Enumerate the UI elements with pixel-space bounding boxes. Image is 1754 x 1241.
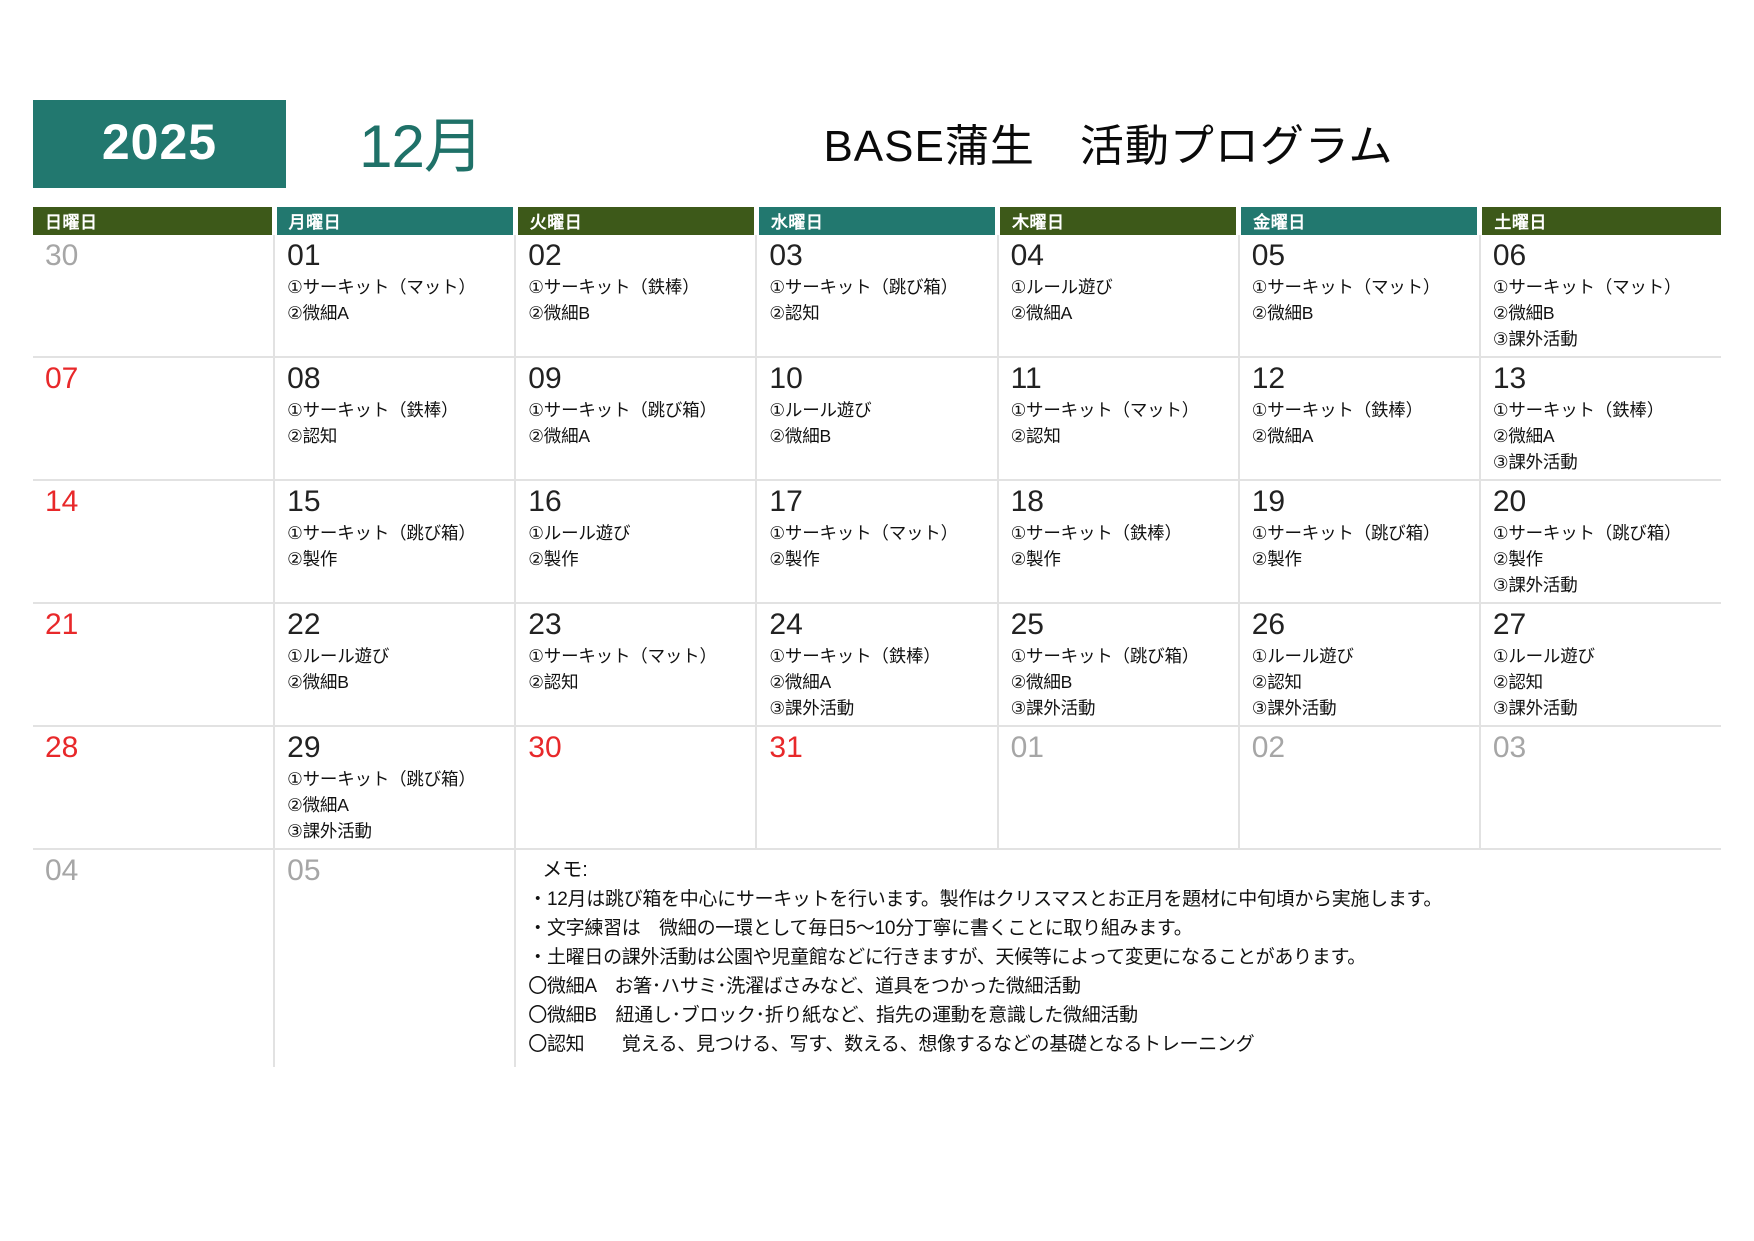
day-event: ②微細A [769,669,990,695]
page-title: BASE蒲生 活動プログラム [556,100,1721,188]
day-event: ①サーキット（跳び箱） [287,520,508,546]
day-event: ①サーキット（マット） [287,274,508,300]
day-event: ①サーキット（鉄棒） [1011,520,1232,546]
day-event: ②微細A [1493,423,1715,449]
day-event: ①ルール遊び [528,520,749,546]
day-event: ③課外活動 [769,695,990,721]
calendar-header: 2025 12月 BASE蒲生 活動プログラム [33,100,1721,188]
day-cell[interactable]: 04 ①ルール遊び ②微細A [998,235,1239,357]
day-cell[interactable]: 22 ①ルール遊び ②微細B [274,603,515,726]
weekday-header-wednesday: 水曜日 [756,207,997,235]
memo-line: 〇微細A お箸･ハサミ･洗濯ばさみなど、道具をつかった微細活動 [528,972,1721,1001]
day-event: ①サーキット（マット） [1011,397,1232,423]
day-number: 19 [1252,485,1473,519]
day-cell[interactable]: 24 ①サーキット（鉄棒） ②微細A ③課外活動 [756,603,997,726]
day-event: ②微細B [1011,669,1232,695]
day-event: ②微細B [769,423,990,449]
day-number: 24 [769,608,990,642]
day-cell[interactable]: 16 ①ルール遊び ②製作 [515,480,756,603]
memo-panel: メモ: ・12月は跳び箱を中心にサーキットを行います。製作はクリスマスとお正月を… [515,849,1721,1067]
day-cell[interactable]: 01 ①サーキット（マット） ②微細A [274,235,515,357]
day-cell[interactable]: 12 ①サーキット（鉄棒） ②微細A [1239,357,1480,480]
day-cell[interactable]: 01 [998,726,1239,849]
weekday-header-monday: 月曜日 [274,207,515,235]
day-event: ①サーキット（鉄棒） [769,643,990,669]
day-event: ③課外活動 [1493,695,1715,721]
memo-line: ・12月は跳び箱を中心にサーキットを行います。製作はクリスマスとお正月を題材に中… [528,885,1721,914]
month-label: 12月 [286,100,556,188]
day-cell[interactable]: 15 ①サーキット（跳び箱） ②製作 [274,480,515,603]
day-event: ①ルール遊び [287,643,508,669]
day-cell[interactable]: 28 [33,726,274,849]
weekday-header-tuesday: 火曜日 [515,207,756,235]
day-number: 04 [45,854,267,888]
day-event: ①ルール遊び [1252,643,1473,669]
calendar-body: 30 01 ①サーキット（マット） ②微細A 02 ①サーキット（鉄棒） ②微細… [33,235,1721,1067]
day-cell[interactable]: 14 [33,480,274,603]
day-number: 10 [769,362,990,396]
day-event: ②認知 [528,669,749,695]
day-number: 08 [287,362,508,396]
day-cell[interactable]: 17 ①サーキット（マット） ②製作 [756,480,997,603]
day-event: ②微細A [528,423,749,449]
day-number: 11 [1011,362,1232,396]
day-event: ②認知 [1252,669,1473,695]
day-event: ②微細B [528,300,749,326]
day-cell[interactable]: 18 ①サーキット（鉄棒） ②製作 [998,480,1239,603]
day-number: 13 [1493,362,1715,396]
day-event: ①サーキット（鉄棒） [1493,397,1715,423]
calendar-week-row: 07 08 ①サーキット（鉄棒） ②認知 09 ①サーキット（跳び箱） ②微細A… [33,357,1721,480]
day-cell[interactable]: 23 ①サーキット（マット） ②認知 [515,603,756,726]
calendar-page: 2025 12月 BASE蒲生 活動プログラム 日曜日 月曜日 火曜日 水曜日 … [0,0,1754,1241]
day-number: 01 [1011,731,1232,765]
day-event: ③課外活動 [1011,695,1232,721]
day-event: ②微細A [287,300,508,326]
day-event: ②微細A [1011,300,1232,326]
day-event: ②微細A [1252,423,1473,449]
day-event: ②認知 [287,423,508,449]
day-event: ①サーキット（鉄棒） [287,397,508,423]
memo-line: ・土曜日の課外活動は公園や児童館などに行きますが、天候等によって変更になることが… [528,943,1721,972]
day-number: 05 [287,854,508,888]
day-event: ③課外活動 [1252,695,1473,721]
day-cell[interactable]: 19 ①サーキット（跳び箱） ②製作 [1239,480,1480,603]
day-number: 01 [287,239,508,273]
day-event: ②認知 [1011,423,1232,449]
day-event: ①サーキット（マット） [769,520,990,546]
calendar-memo-row: 04 05 メモ: ・12月は跳び箱を中心にサーキットを行います。製作はクリスマ… [33,849,1721,1067]
day-event: ③課外活動 [1493,449,1715,475]
day-number: 27 [1493,608,1715,642]
day-number: 30 [528,731,749,765]
day-event: ②製作 [769,546,990,572]
day-event: ②認知 [769,300,990,326]
calendar-week-row: 28 29 ①サーキット（跳び箱） ②微細A ③課外活動 30 31 01 [33,726,1721,849]
day-cell[interactable]: 03 ①サーキット（跳び箱） ②認知 [756,235,997,357]
day-cell[interactable]: 13 ①サーキット（鉄棒） ②微細A ③課外活動 [1480,357,1721,480]
calendar-week-row: 14 15 ①サーキット（跳び箱） ②製作 16 ①ルール遊び ②製作 17 ①… [33,480,1721,603]
day-event: ①サーキット（跳び箱） [1493,520,1715,546]
day-number: 09 [528,362,749,396]
day-cell[interactable]: 21 [33,603,274,726]
day-number: 02 [528,239,749,273]
day-number: 03 [769,239,990,273]
day-number: 16 [528,485,749,519]
day-number: 03 [1493,731,1715,765]
weekday-header-row: 日曜日 月曜日 火曜日 水曜日 木曜日 金曜日 土曜日 [33,207,1721,235]
day-event: ①サーキット（跳び箱） [1011,643,1232,669]
day-cell[interactable]: 10 ①ルール遊び ②微細B [756,357,997,480]
day-event: ①サーキット（跳び箱） [528,397,749,423]
day-event: ②製作 [1011,546,1232,572]
weekday-header-friday: 金曜日 [1239,207,1480,235]
day-event: ①サーキット（マット） [1493,274,1715,300]
day-cell[interactable]: 06 ①サーキット（マット） ②微細B ③課外活動 [1480,235,1721,357]
weekday-header-sunday: 日曜日 [33,207,274,235]
day-number: 30 [45,239,267,273]
day-cell[interactable]: 26 ①ルール遊び ②認知 ③課外活動 [1239,603,1480,726]
day-cell[interactable]: 05 [274,849,515,1067]
day-number: 31 [769,731,990,765]
memo-title: メモ: [528,856,1721,884]
day-number: 07 [45,362,267,396]
calendar-week-row: 21 22 ①ルール遊び ②微細B 23 ①サーキット（マット） ②認知 24 … [33,603,1721,726]
weekday-header-thursday: 木曜日 [998,207,1239,235]
day-event: ①サーキット（マット） [1252,274,1473,300]
memo-line: 〇微細B 紐通し･ブロック･折り紙など、指先の運動を意識した微細活動 [528,1001,1721,1030]
day-cell[interactable]: 30 [33,235,274,357]
day-event: ②認知 [1493,669,1715,695]
day-number: 02 [1252,731,1473,765]
day-number: 12 [1252,362,1473,396]
day-cell[interactable]: 20 ①サーキット（跳び箱） ②製作 ③課外活動 [1480,480,1721,603]
day-cell[interactable]: 02 ①サーキット（鉄棒） ②微細B [515,235,756,357]
day-event: ②製作 [287,546,508,572]
day-event: ②製作 [1493,546,1715,572]
day-number: 29 [287,731,508,765]
day-cell[interactable]: 29 ①サーキット（跳び箱） ②微細A ③課外活動 [274,726,515,849]
day-number: 23 [528,608,749,642]
day-event: ③課外活動 [1493,326,1715,352]
day-number: 04 [1011,239,1232,273]
day-number: 20 [1493,485,1715,519]
day-cell[interactable]: 02 [1239,726,1480,849]
day-cell[interactable]: 03 [1480,726,1721,849]
day-event: ②微細B [1252,300,1473,326]
day-number: 15 [287,485,508,519]
memo-line: ・文字練習は 微細の一環として毎日5〜10分丁寧に書くことに取り組みます。 [528,914,1721,943]
day-number: 26 [1252,608,1473,642]
day-number: 25 [1011,608,1232,642]
day-number: 05 [1252,239,1473,273]
memo-line: 〇認知 覚える、見つける、写す、数える、想像するなどの基礎となるトレーニング [528,1030,1721,1059]
day-cell[interactable]: 11 ①サーキット（マット） ②認知 [998,357,1239,480]
year-badge: 2025 [33,100,286,188]
day-cell[interactable]: 07 [33,357,274,480]
day-event: ①サーキット（跳び箱） [287,766,508,792]
day-event: ①ルール遊び [1011,274,1232,300]
day-cell[interactable]: 09 ①サーキット（跳び箱） ②微細A [515,357,756,480]
day-cell[interactable]: 30 [515,726,756,849]
calendar-grid: 日曜日 月曜日 火曜日 水曜日 木曜日 金曜日 土曜日 30 01 ①サーキット… [33,207,1721,1067]
day-number: 06 [1493,239,1715,273]
day-event: ①サーキット（マット） [528,643,749,669]
day-event: ①サーキット（跳び箱） [769,274,990,300]
day-number: 21 [45,608,267,642]
day-cell[interactable]: 31 [756,726,997,849]
day-event: ①ルール遊び [769,397,990,423]
day-event: ③課外活動 [287,818,508,844]
day-number: 22 [287,608,508,642]
day-event: ①サーキット（跳び箱） [1252,520,1473,546]
day-number: 28 [45,731,267,765]
day-cell[interactable]: 27 ①ルール遊び ②認知 ③課外活動 [1480,603,1721,726]
day-number: 18 [1011,485,1232,519]
day-event: ②微細A [287,792,508,818]
day-event: ③課外活動 [1493,572,1715,598]
day-cell[interactable]: 04 [33,849,274,1067]
day-event: ②微細B [1493,300,1715,326]
weekday-header-saturday: 土曜日 [1480,207,1721,235]
calendar-week-row: 30 01 ①サーキット（マット） ②微細A 02 ①サーキット（鉄棒） ②微細… [33,235,1721,357]
day-cell[interactable]: 25 ①サーキット（跳び箱） ②微細B ③課外活動 [998,603,1239,726]
day-cell[interactable]: 08 ①サーキット（鉄棒） ②認知 [274,357,515,480]
day-event: ②製作 [1252,546,1473,572]
day-number: 17 [769,485,990,519]
day-number: 14 [45,485,267,519]
day-event: ①サーキット（鉄棒） [528,274,749,300]
day-event: ①ルール遊び [1493,643,1715,669]
day-event: ②微細B [287,669,508,695]
day-event: ①サーキット（鉄棒） [1252,397,1473,423]
day-event: ②製作 [528,546,749,572]
day-cell[interactable]: 05 ①サーキット（マット） ②微細B [1239,235,1480,357]
